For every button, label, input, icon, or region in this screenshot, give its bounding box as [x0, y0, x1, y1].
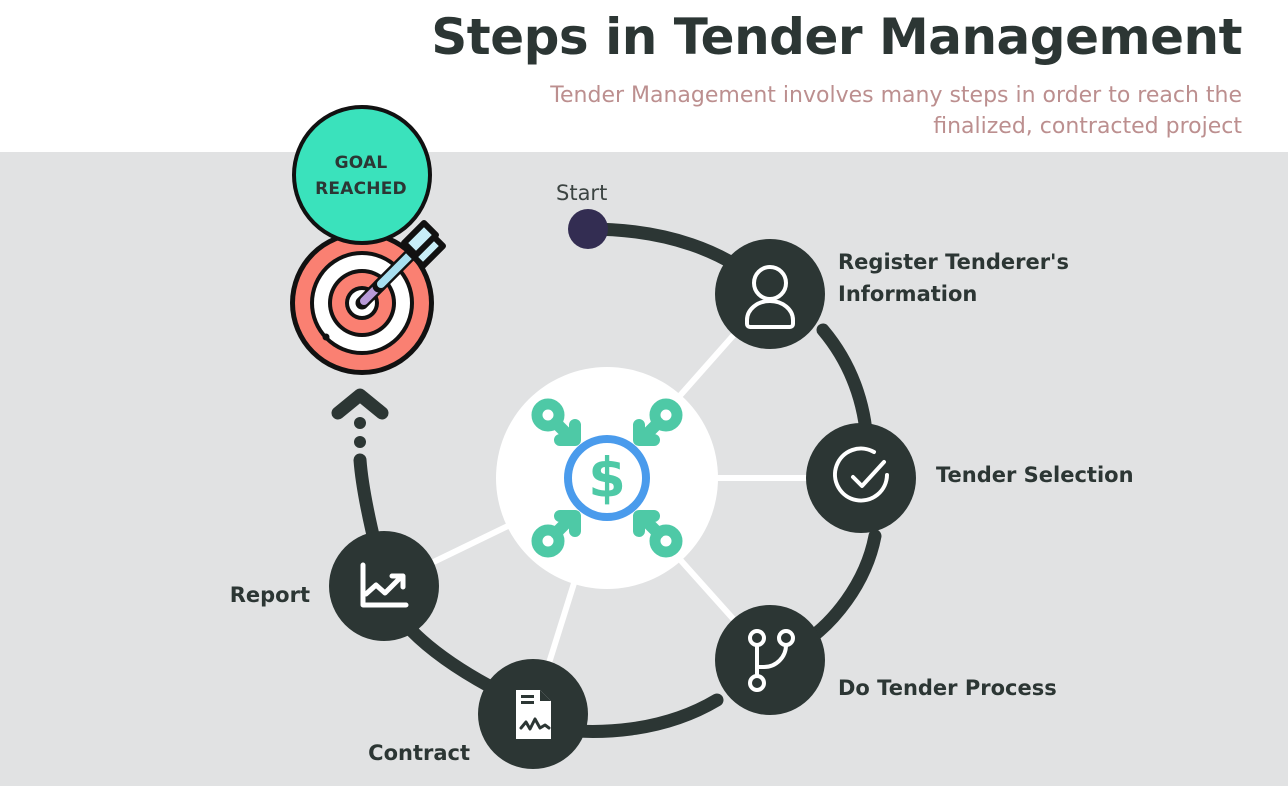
node-contract[interactable]: [478, 659, 588, 769]
start-dot-icon: [568, 209, 608, 249]
node-selection[interactable]: [806, 423, 916, 533]
tender-cycle-diagram: $: [0, 0, 1288, 786]
dollar-symbol: $: [588, 447, 626, 510]
node-label-selection: Tender Selection: [936, 460, 1136, 492]
node-label-register: Register Tenderer's Information: [838, 247, 1078, 310]
node-label-report: Report: [150, 580, 310, 612]
node-register[interactable]: [715, 239, 825, 349]
chevron-up-dotted-icon: [338, 395, 382, 467]
infographic-canvas: Steps in Tender Management Tender Manage…: [0, 0, 1288, 786]
goal-label-line1: GOAL: [292, 150, 430, 176]
node-label-process: Do Tender Process: [838, 673, 1058, 705]
node-label-contract: Contract: [300, 738, 470, 770]
node-report[interactable]: [329, 531, 439, 641]
start-label: Start: [556, 181, 607, 205]
node-process[interactable]: [715, 605, 825, 715]
signed-document-icon: [516, 690, 551, 739]
goal-reached-label: GOAL REACHED: [292, 150, 430, 203]
goal-label-line2: REACHED: [292, 176, 430, 202]
